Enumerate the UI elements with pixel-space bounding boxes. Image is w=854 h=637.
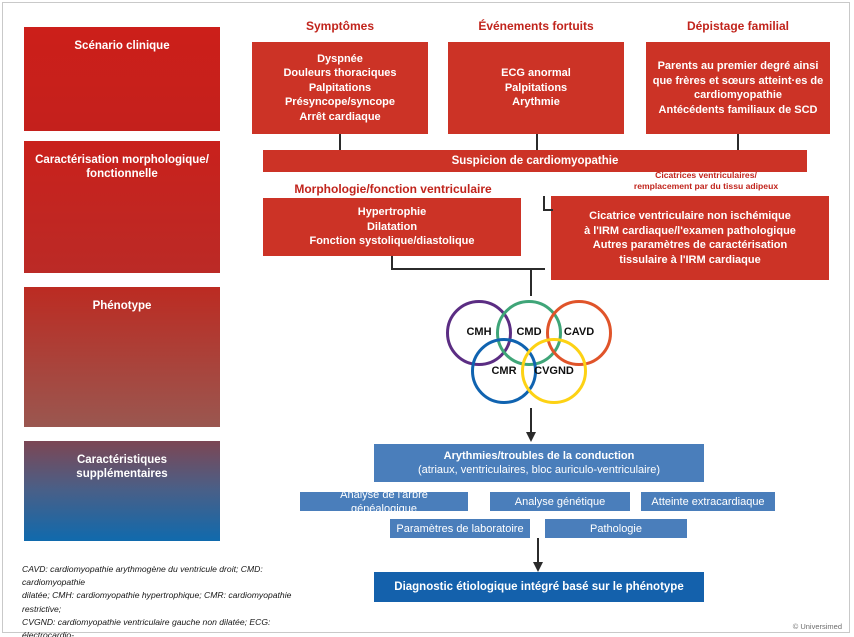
subheader-ventricular-morphology: Morphologie/fonction ventriculaire — [263, 182, 523, 196]
legend-line-2: dilatée; CMH: cardiomyopathie hypertroph… — [22, 589, 322, 615]
subheader-ventricular-scars: Cicatrices ventriculaires/ remplacement … — [586, 170, 826, 192]
connector-symptoms-to-suspicion — [339, 134, 341, 150]
scar-header-line-2: remplacement par du tissu adipeux — [634, 181, 778, 191]
venn-label-cmh: CMH — [456, 326, 502, 338]
extra-label: Pathologie — [590, 522, 642, 536]
venn-diagram-phenotypes: CMH CMD CAVD CMR CVGND — [440, 296, 620, 408]
morphology-item: Dilatation — [269, 220, 515, 235]
extra-label: Paramètres de laboratoire — [396, 522, 523, 536]
extra-label: Atteinte extracardiaque — [651, 495, 764, 509]
box-suspicion-cardiomyopathy: Suspicion de cardiomyopathie — [263, 150, 807, 172]
stage-label: Caractéristiques supplémentaires — [32, 453, 212, 541]
connector-scar-corner — [543, 196, 545, 197]
box-incidental-events: ECG anormal Palpitations Arythmie — [448, 42, 624, 134]
extra-label: Analyse génétique — [515, 495, 606, 509]
incidental-item: Palpitations — [454, 81, 618, 96]
arrhythmia-title: Arythmies/troubles de la conduction — [444, 449, 635, 463]
box-final-diagnosis: Diagnostic étiologique intégré basé sur … — [374, 572, 704, 602]
symptom-item: Dyspnée — [258, 52, 422, 67]
connector-bracket-to-venn — [530, 268, 532, 296]
connector-family-to-suspicion — [737, 134, 739, 150]
stage-morphological-characterisation: Caractérisation morphologique/ fonctionn… — [24, 141, 220, 273]
connector-bracket-horizontal — [391, 268, 545, 270]
scar-item: Autres paramètres de caractérisation — [557, 238, 823, 253]
venn-label-cmr: CMR — [481, 365, 527, 377]
stage-label: Scénario clinique — [32, 39, 212, 131]
box-arrhythmias: Arythmies/troubles de la conduction (atr… — [374, 444, 704, 482]
family-item: Parents au premier degré ainsi — [652, 59, 824, 74]
box-extracardiac-involvement: Atteinte extracardiaque — [641, 492, 775, 511]
arrow-venn-to-arrhythmia — [524, 430, 538, 444]
connector-scar-stub — [543, 196, 545, 210]
scar-item: à l'IRM cardiaque/l'examen pathologique — [557, 224, 823, 239]
venn-label-cavd: CAVD — [554, 326, 604, 338]
legend-line-3: CVGND: cardiomyopathie ventriculaire gau… — [22, 616, 322, 637]
venn-label-cvgnd: CVGND — [526, 365, 582, 377]
family-item: cardiomyopathie — [652, 88, 824, 103]
box-pathology: Pathologie — [545, 519, 687, 538]
box-ventricular-morphology: Hypertrophie Dilatation Fonction systoli… — [263, 198, 521, 256]
venn-label-cmd: CMD — [506, 326, 552, 338]
stage-label: Caractérisation morphologique/ fonctionn… — [32, 153, 212, 273]
family-item: Antécédents familiaux de SCD — [652, 103, 824, 118]
scar-item: Cicatrice ventriculaire non ischémique — [557, 209, 823, 224]
arrhythmia-subtitle: (atriaux, ventriculaires, bloc auriculo-… — [418, 463, 660, 477]
box-laboratory-parameters: Paramètres de laboratoire — [390, 519, 530, 538]
stage-clinical-scenario: Scénario clinique — [24, 27, 220, 131]
suspicion-label: Suspicion de cardiomyopathie — [269, 154, 801, 169]
incidental-item: ECG anormal — [454, 66, 618, 81]
diagram-canvas: Scénario clinique Caractérisation morpho… — [0, 0, 854, 637]
connector-scar-horizontal — [543, 209, 553, 211]
symptom-item: Présyncope/syncope — [258, 95, 422, 110]
final-diagnosis-label: Diagnostic étiologique intégré basé sur … — [394, 580, 683, 594]
symptom-item: Palpitations — [258, 81, 422, 96]
box-symptoms: Dyspnée Douleurs thoraciques Palpitation… — [252, 42, 428, 134]
column-header-family-screening: Dépistage familial — [646, 19, 830, 33]
incidental-item: Arythmie — [454, 95, 618, 110]
legend-line-1: CAVD: cardiomyopathie arythmogène du ven… — [22, 563, 322, 589]
stage-label: Phénotype — [32, 299, 212, 427]
morphology-item: Hypertrophie — [269, 205, 515, 220]
morphology-item: Fonction systolique/diastolique — [269, 234, 515, 249]
family-item: que frères et sœurs atteint·es de — [652, 74, 824, 89]
box-genetic-analysis: Analyse génétique — [490, 492, 630, 511]
box-family-screening: Parents au premier degré ainsi que frère… — [646, 42, 830, 134]
box-ventricular-scar: Cicatrice ventriculaire non ischémique à… — [551, 196, 829, 280]
stage-phenotype: Phénotype — [24, 287, 220, 427]
scar-item: tissulaire à l'IRM cardiaque — [557, 253, 823, 268]
box-pedigree-analysis: Analyse de l'arbre généalogique — [300, 492, 468, 511]
stage-additional-features: Caractéristiques supplémentaires — [24, 441, 220, 541]
scar-header-line-1: Cicatrices ventriculaires/ — [655, 170, 757, 180]
symptom-item: Arrêt cardiaque — [258, 110, 422, 125]
column-header-incidental-events: Événements fortuits — [448, 19, 624, 33]
copyright-notice: © Universimed — [793, 622, 842, 631]
connector-incidental-to-suspicion — [536, 134, 538, 150]
symptom-item: Douleurs thoraciques — [258, 66, 422, 81]
abbreviation-legend: CAVD: cardiomyopathie arythmogène du ven… — [22, 563, 322, 637]
extra-label: Analyse de l'arbre généalogique — [306, 488, 462, 516]
column-header-symptoms: Symptômes — [252, 19, 428, 33]
